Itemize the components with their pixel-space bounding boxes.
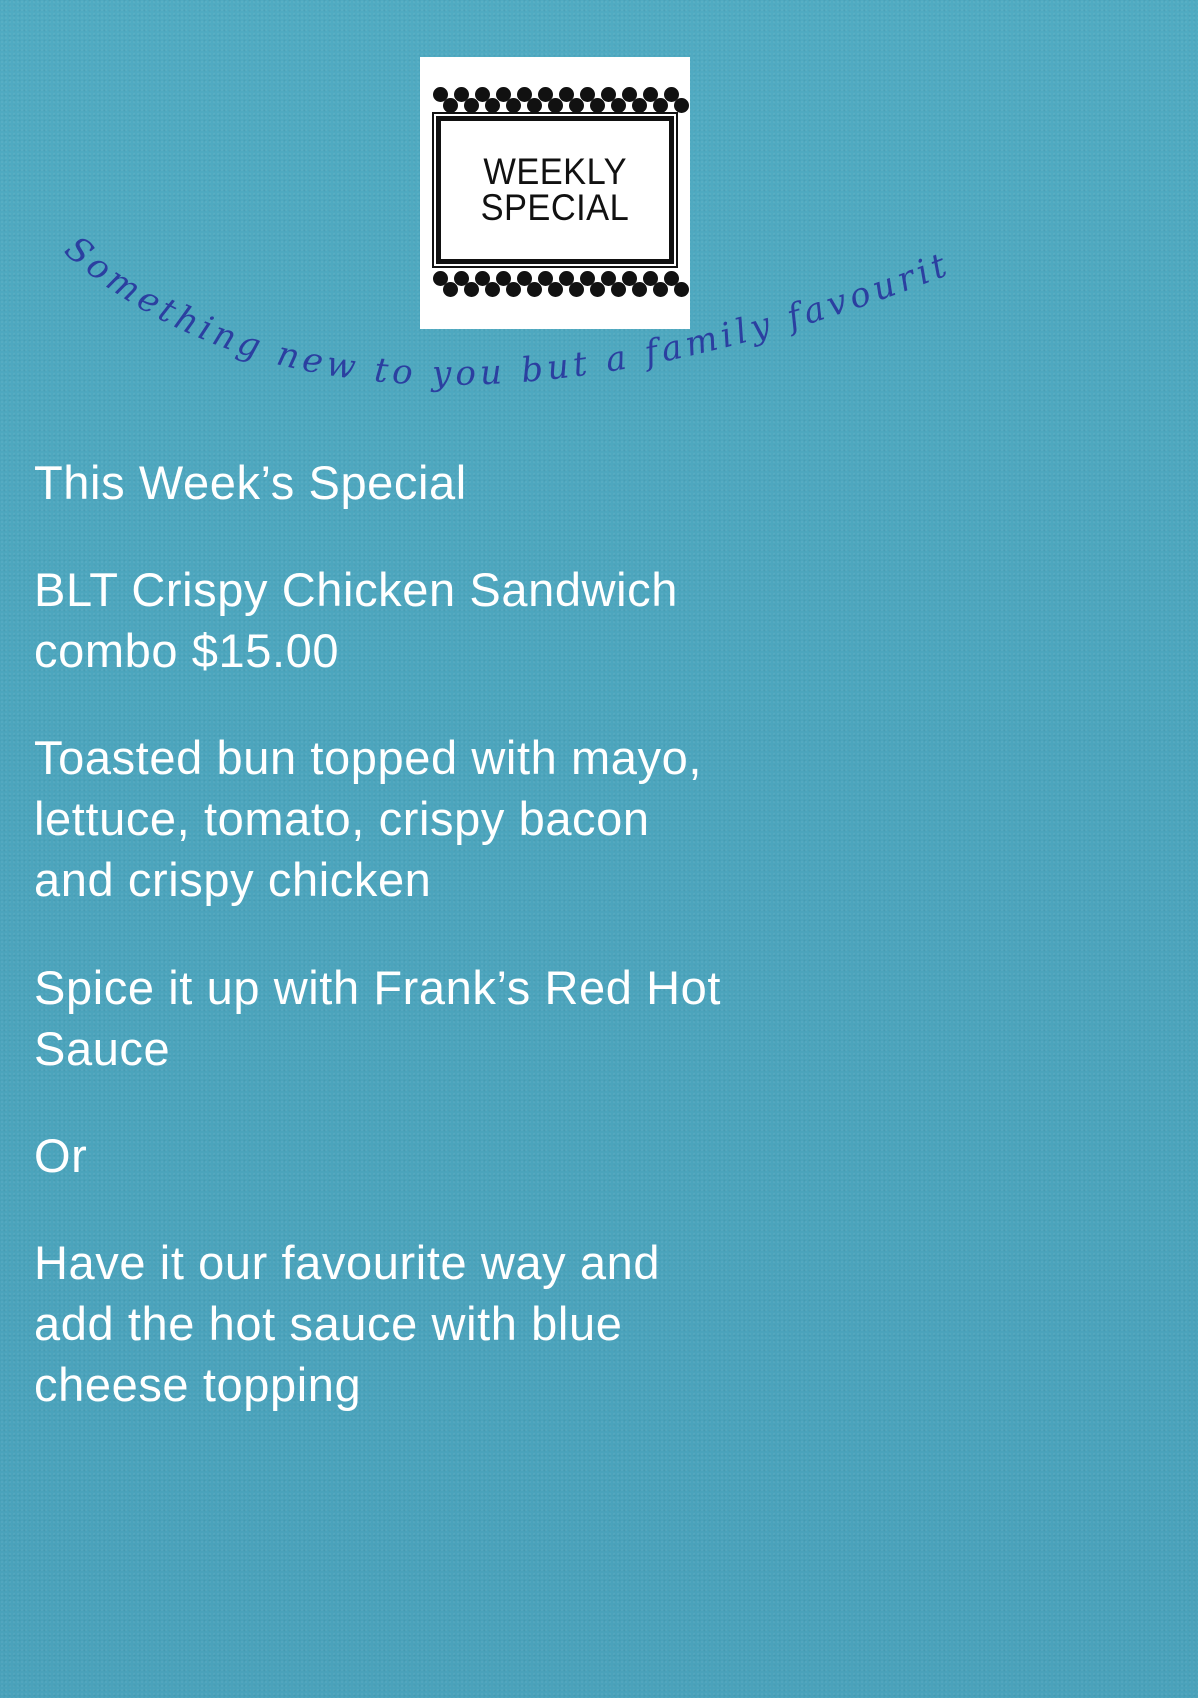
badge-dot [527, 98, 542, 113]
copy-line: and crispy chicken [34, 849, 1034, 910]
badge-dot [464, 98, 479, 113]
copy-line: Or [34, 1125, 1034, 1186]
badge-dot [464, 282, 479, 297]
copy-line: This Week’s Special [34, 452, 1034, 513]
copy-block: Have it our favourite way andadd the hot… [34, 1232, 1034, 1415]
badge-dot [590, 282, 605, 297]
badge-dot [632, 98, 647, 113]
badge-title-line-1: WEEKLY [483, 154, 627, 190]
badge-dot [443, 98, 458, 113]
badge-dot [485, 282, 500, 297]
badge-dot [653, 282, 668, 297]
badge-dot [653, 98, 668, 113]
copy-line: cheese topping [34, 1354, 1034, 1415]
badge-dot-row-bottom-outer [433, 282, 679, 297]
copy-line: Toasted bun topped with mayo, [34, 727, 1034, 788]
badge-dot [569, 282, 584, 297]
badge-dot [485, 98, 500, 113]
copy-line: combo $15.00 [34, 620, 1034, 681]
copy-block: Toasted bun topped with mayo,lettuce, to… [34, 727, 1034, 910]
badge-dot [611, 98, 626, 113]
badge-dot [443, 282, 458, 297]
copy-block: Spice it up with Frank’s Red HotSauce [34, 957, 1034, 1079]
badge-dot [506, 282, 521, 297]
badge-dot [569, 98, 584, 113]
copy-block: Or [34, 1125, 1034, 1186]
copy-block: BLT Crispy Chicken Sandwichcombo $15.00 [34, 559, 1034, 681]
badge-dot [527, 282, 542, 297]
badge-dot [590, 98, 605, 113]
copy-line: BLT Crispy Chicken Sandwich [34, 559, 1034, 620]
weekly-special-badge: WEEKLY SPECIAL [420, 57, 690, 329]
badge-title-line-2: SPECIAL [481, 190, 630, 226]
copy-line: Spice it up with Frank’s Red Hot [34, 957, 1034, 1018]
badge-dot [674, 98, 689, 113]
badge-frame: WEEKLY SPECIAL [436, 116, 674, 264]
badge-dot [611, 282, 626, 297]
copy-line: add the hot sauce with blue [34, 1293, 1034, 1354]
badge-dot [548, 98, 563, 113]
copy-line: lettuce, tomato, crispy bacon [34, 788, 1034, 849]
poster-body-copy: This Week’s SpecialBLT Crispy Chicken Sa… [34, 452, 1034, 1415]
badge-dot [674, 282, 689, 297]
copy-line: Sauce [34, 1018, 1034, 1079]
copy-block: This Week’s Special [34, 452, 1034, 513]
badge-dot [506, 98, 521, 113]
copy-line: Have it our favourite way and [34, 1232, 1034, 1293]
badge-dot-row-top-inner [433, 98, 679, 113]
badge-dot [632, 282, 647, 297]
badge-dot [548, 282, 563, 297]
